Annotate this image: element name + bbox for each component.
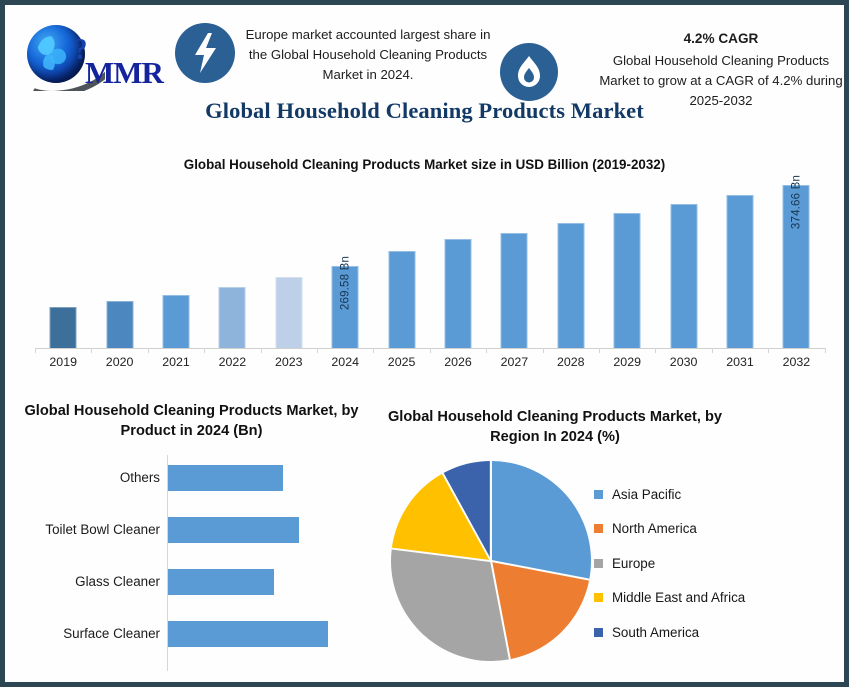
axis-year-label: 2030 [655,355,711,369]
pie-slice-separator [392,547,491,562]
legend-label: South America [612,625,699,640]
axis-tick [655,348,656,353]
cagr-value: 4.2% CAGR [595,29,847,50]
axis-year-label: 2023 [261,355,317,369]
market-size-bar-column [35,177,91,349]
bolt-glyph [192,33,218,73]
axis-tick [261,348,262,353]
legend-label: North America [612,521,697,536]
market-size-bar [726,195,753,349]
market-size-bar-column [373,177,429,349]
axis-year-label: 2027 [486,355,542,369]
market-size-bar [388,251,415,349]
market-size-bar-column [599,177,655,349]
legend-item[interactable]: South America [594,615,844,650]
by-product-category-label: Others [27,470,160,485]
market-size-bar-column [261,177,317,349]
axis-tick [91,348,92,353]
lightning-bolt-icon [175,23,235,83]
legend-label: Asia Pacific [612,487,681,502]
flame-glyph [516,55,542,89]
legend-label: Middle East and Africa [612,590,745,605]
axis-year-label: 2026 [430,355,486,369]
by-product-bar [168,621,328,647]
axis-year-label: 2022 [204,355,260,369]
by-product-bar-chart: OthersToilet Bowl CleanerGlass CleanerSu… [27,455,367,671]
market-size-bar-column [655,177,711,349]
axis-year-label: 2019 [35,355,91,369]
legend-color-swatch [594,490,603,499]
axis-tick [430,348,431,353]
by-product-category-label: Surface Cleaner [27,626,160,641]
market-size-bar [557,223,584,349]
legend-item[interactable]: Europe [594,546,844,581]
market-size-bar [106,301,133,349]
market-size-bar-column [430,177,486,349]
legend-item[interactable]: Middle East and Africa [594,581,844,616]
axis-tick [825,348,826,353]
market-size-bar [501,233,528,349]
market-size-bar-column [712,177,768,349]
axis-year-label: 2025 [373,355,429,369]
axis-tick [486,348,487,353]
axis-tick [204,348,205,353]
market-size-chart-title: Global Household Cleaning Products Marke… [5,157,844,172]
axis-tick [712,348,713,353]
axis-year-label: 2028 [543,355,599,369]
axis-tick [317,348,318,353]
market-size-bar [219,287,246,349]
flame-drop-icon [500,43,558,101]
market-size-bar [162,295,189,349]
pie-slice-separator [490,561,511,660]
legend-color-swatch [594,628,603,637]
by-region-legend: Asia PacificNorth AmericaEuropeMiddle Ea… [594,477,844,650]
market-size-bar-column [486,177,542,349]
axis-tick [373,348,374,353]
axis-year-label: 2020 [91,355,147,369]
axis-tick [35,348,36,353]
axis-tick [768,348,769,353]
by-product-category-label: Glass Cleaner [27,574,160,589]
by-product-bar [168,465,283,491]
pie-slice-separator [490,461,492,561]
axis-year-label: 2029 [599,355,655,369]
market-size-bar-value-label: 269.58 Bn [339,256,351,310]
by-region-chart-title: Global Household Cleaning Products Marke… [385,407,725,447]
market-size-bar [614,213,641,349]
by-product-category-label: Toilet Bowl Cleaner [27,522,160,537]
logo-text: MMR [85,55,163,91]
axis-tick [599,348,600,353]
mmr-logo: ? MMR [19,19,169,95]
by-product-bar [168,517,299,543]
legend-item[interactable]: North America [594,512,844,547]
axis-year-label: 2021 [148,355,204,369]
europe-note: Europe market accounted largest share in… [243,25,493,85]
market-size-bar-column [543,177,599,349]
axis-tick [543,348,544,353]
market-size-bar: 269.58 Bn [332,266,359,349]
legend-color-swatch [594,559,603,568]
market-size-bar: 374.66 Bn [783,185,810,349]
market-size-bar-value-label: 374.66 Bn [790,175,802,229]
market-size-bar-column [91,177,147,349]
page-title: Global Household Cleaning Products Marke… [5,98,844,124]
axis-tick [148,348,149,353]
market-size-bar-column: 269.58 Bn [317,177,373,349]
infographic-canvas: ? MMR Europe market accounted largest sh… [5,5,844,682]
market-size-bar-column [204,177,260,349]
pie-slice-separator [442,473,492,562]
by-product-chart-title: Global Household Cleaning Products Marke… [19,401,364,441]
axis-year-label: 2031 [712,355,768,369]
by-region-pie-chart [391,461,591,661]
legend-label: Europe [612,556,655,571]
market-size-bar-column: 374.66 Bn [768,177,824,349]
market-size-bar-column [148,177,204,349]
legend-color-swatch [594,524,603,533]
infographic-frame: ? MMR Europe market accounted largest sh… [0,0,849,687]
legend-item[interactable]: Asia Pacific [594,477,844,512]
market-size-bar-chart: 269.58 Bn374.66 Bn [35,177,825,349]
axis-year-label: 2032 [768,355,824,369]
legend-color-swatch [594,593,603,602]
axis-year-label: 2024 [317,355,373,369]
market-size-bar [670,204,697,349]
market-size-bar [50,307,77,349]
by-product-bar [168,569,274,595]
pie-slice-separator [491,560,590,581]
market-size-bar [275,277,302,349]
market-size-bar [444,239,471,349]
